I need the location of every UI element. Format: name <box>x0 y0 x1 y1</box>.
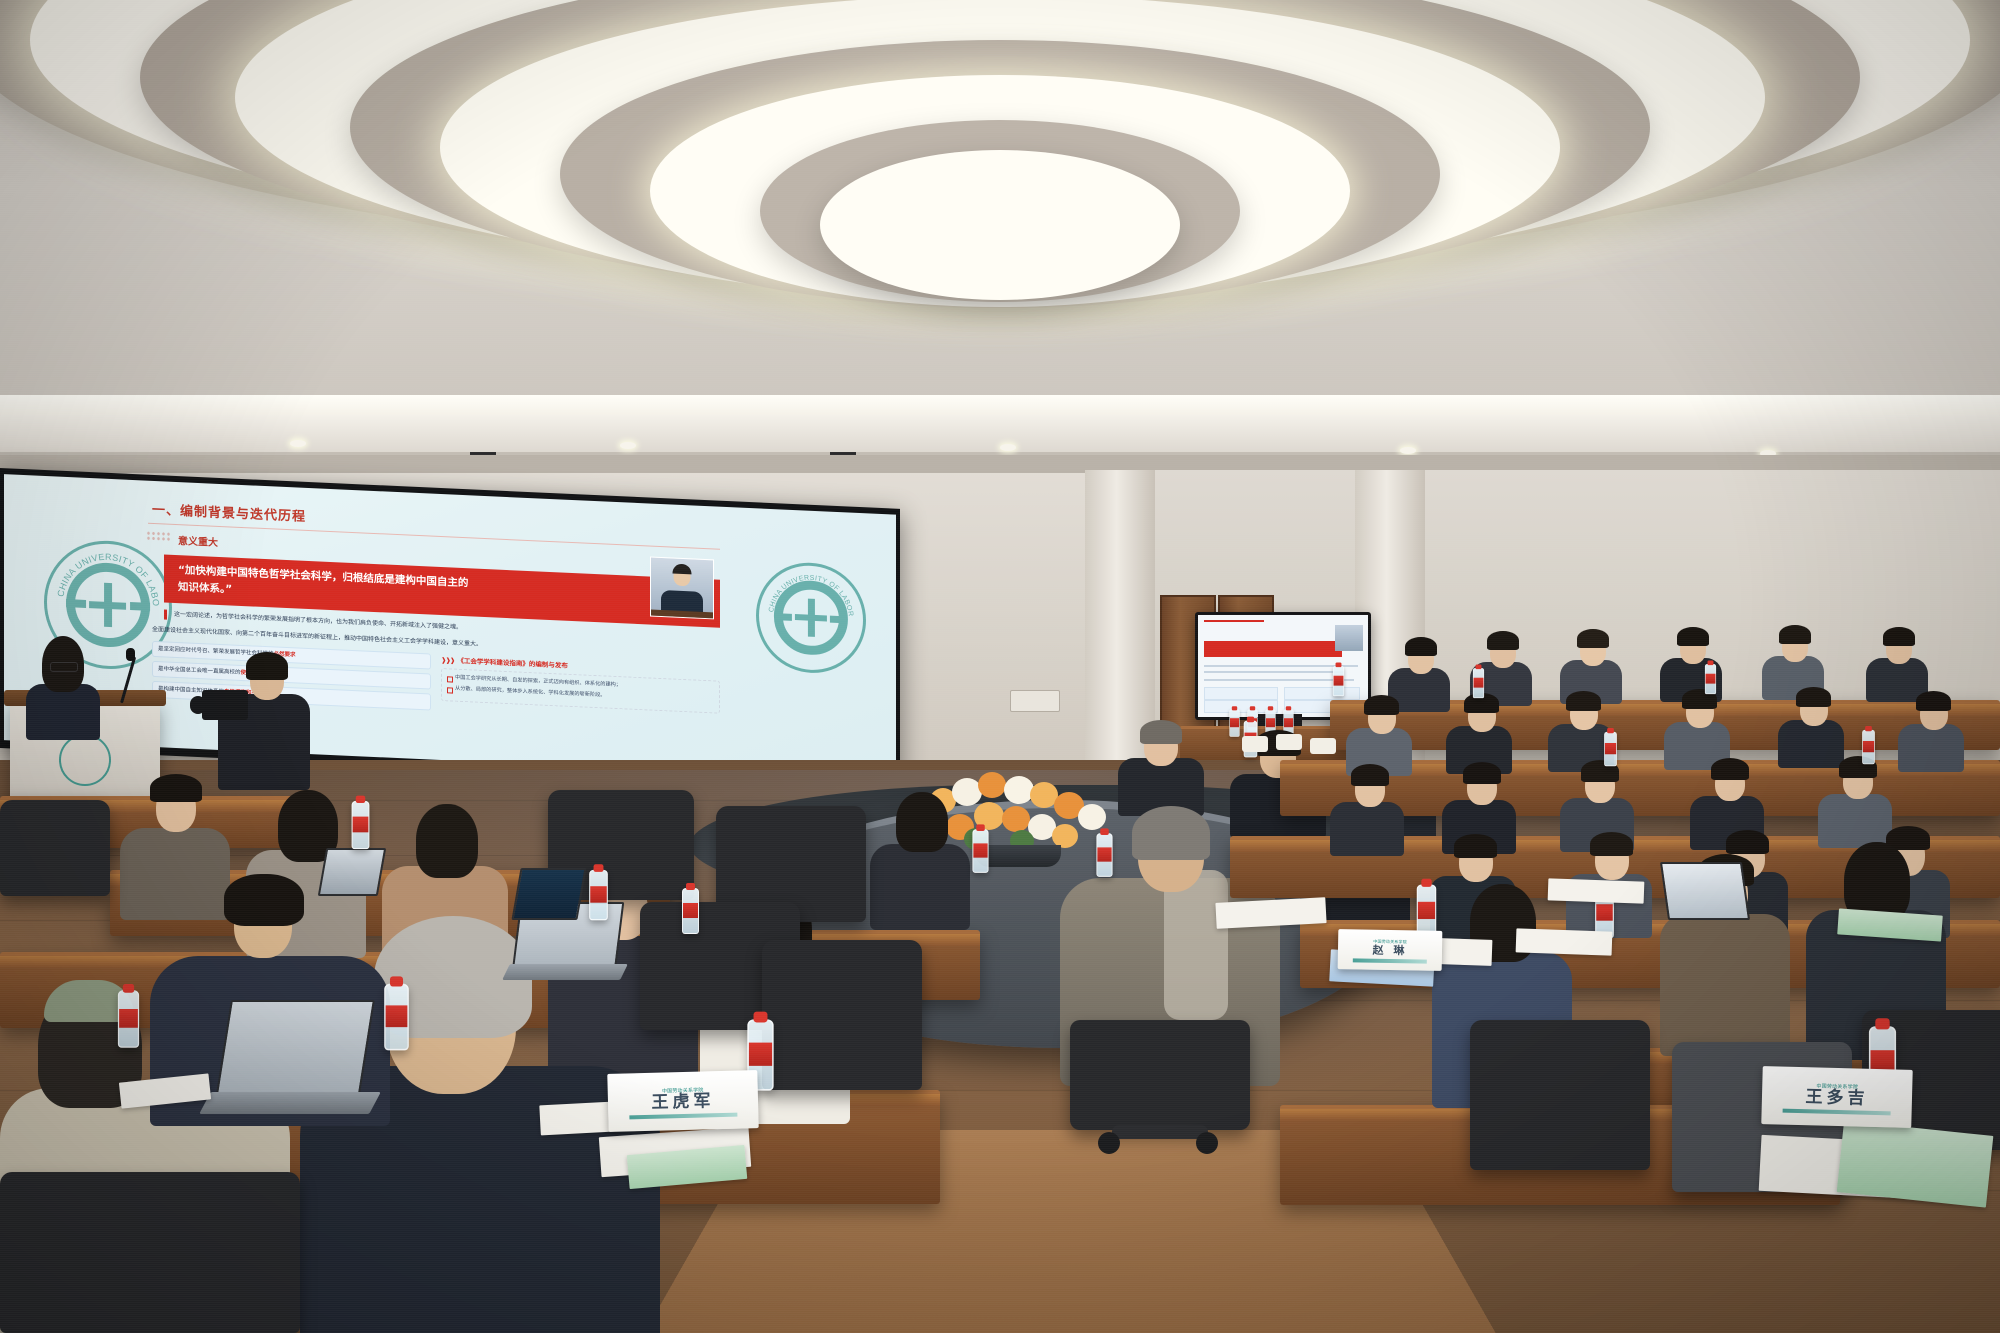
eyeglasses-icon <box>50 662 78 672</box>
nameplate-accent-bar <box>1352 958 1427 963</box>
tablet-device[interactable] <box>512 868 582 926</box>
attendee <box>1866 622 1928 696</box>
tablet-device[interactable] <box>1660 862 1746 926</box>
ceiling-downlight-icon <box>1000 444 1016 451</box>
ceiling-downlight-icon <box>620 442 636 449</box>
dots-decoration-icon <box>146 531 172 542</box>
camera-operator <box>218 638 310 788</box>
nameplate-name: 王多吉 <box>1805 1089 1868 1108</box>
document-papers[interactable] <box>1548 878 1645 903</box>
chair-caster <box>1098 1132 1120 1154</box>
office-chair[interactable] <box>0 800 110 896</box>
nameplate-wang-hujun: 中国劳动关系学院 王虎军 <box>607 1070 758 1132</box>
water-bottle[interactable] <box>1862 730 1875 765</box>
tea-cup[interactable] <box>1310 738 1336 754</box>
attendee <box>1346 690 1412 770</box>
attendee <box>1778 682 1844 762</box>
nameplate-zhao-lin: 中国劳动关系学院 赵 琳 <box>1338 929 1443 971</box>
ceiling-cove-light-5 <box>820 150 1180 300</box>
water-bottle[interactable] <box>682 888 699 934</box>
wall-control-panel[interactable] <box>1010 690 1060 712</box>
conference-room-photo: CHINA UNIVERSITY OF LABOR RELATIONS CHIN… <box>0 0 2000 1333</box>
water-bottle[interactable] <box>1604 732 1617 767</box>
water-bottle[interactable] <box>1473 668 1484 698</box>
video-camera <box>202 690 248 720</box>
document-papers[interactable] <box>1516 928 1613 955</box>
water-bottle[interactable] <box>972 829 988 873</box>
chevron-right-icon: ❱❱❱ <box>441 656 454 665</box>
tea-cup[interactable] <box>1242 736 1268 752</box>
ceiling-downlight-icon <box>290 440 306 447</box>
lectern-university-seal-icon <box>59 734 111 786</box>
nameplate-name: 王虎军 <box>651 1093 714 1112</box>
tea-cup[interactable] <box>1276 734 1302 750</box>
chair-base <box>1112 1125 1208 1139</box>
water-bottle[interactable] <box>118 990 139 1048</box>
office-chair[interactable] <box>1070 1020 1250 1130</box>
laptop-left[interactable] <box>205 1000 365 1120</box>
seated-attendee-far <box>1118 712 1204 808</box>
nameplate-accent-bar <box>1783 1108 1891 1115</box>
chair-caster <box>1196 1132 1218 1154</box>
tablet-device[interactable] <box>318 848 382 900</box>
speaker-portrait-image <box>650 557 714 620</box>
nameplate-accent-bar <box>629 1112 737 1119</box>
ceiling-downlight-icon <box>1400 447 1416 454</box>
nameplate-wang-duoji: 中国劳动关系学院 王多吉 <box>1761 1066 1912 1128</box>
water-bottle[interactable] <box>1096 833 1112 877</box>
attendee <box>1446 688 1512 768</box>
office-chair[interactable] <box>762 940 922 1090</box>
microphone-head-icon <box>126 648 135 661</box>
water-bottle[interactable] <box>1417 885 1437 938</box>
attendee <box>1898 686 1964 766</box>
water-bottle[interactable] <box>1333 666 1344 696</box>
water-bottle[interactable] <box>589 870 608 921</box>
university-logo-watermark-right: CHINA UNIVERSITY OF LABOR RELATIONS <box>756 560 866 675</box>
attendee-left <box>870 790 970 920</box>
presenter-at-lectern <box>24 632 102 732</box>
slide-right-title-text: 《工会学学科建设指南》的编制与发布 <box>457 657 568 670</box>
nameplate-name: 赵 琳 <box>1372 945 1407 957</box>
attendee <box>1330 760 1404 850</box>
office-chair[interactable] <box>0 1172 300 1333</box>
water-bottle[interactable] <box>384 984 409 1051</box>
coat-highlight <box>1164 870 1228 1020</box>
slide-subheading-text: 意义重大 <box>178 536 218 549</box>
camera-lens-icon <box>190 696 206 714</box>
slide-column-right: ❱❱❱《工会学学科建设指南》的编制与发布 中国工会学研究从长期、自发的探索，正式… <box>441 654 720 727</box>
water-bottle[interactable] <box>1705 664 1716 694</box>
water-bottle[interactable] <box>352 801 370 849</box>
attendee <box>1664 684 1730 764</box>
office-chair[interactable] <box>1470 1020 1650 1170</box>
